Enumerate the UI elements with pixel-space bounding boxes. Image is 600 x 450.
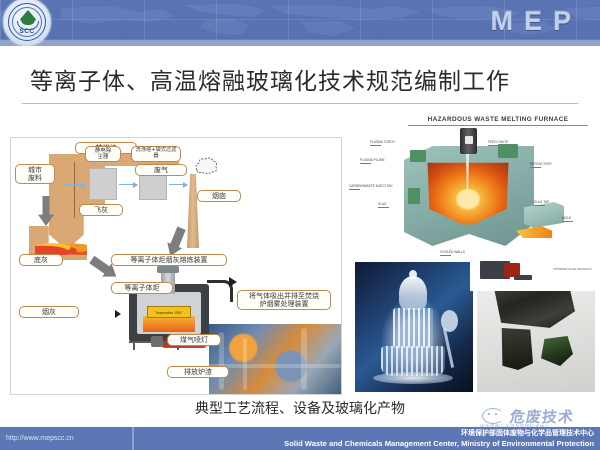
furnace-green-block-left <box>410 150 426 162</box>
label-plasma-torch: 等离子体炬 <box>111 282 173 294</box>
label-slag-discharge: 排放炉渣 <box>167 366 229 378</box>
furnace-callout-plasma-plume: PLASMA PLUME <box>360 158 385 164</box>
watermark-mascot-icon <box>482 408 504 424</box>
label-gas-burner: 煤气喷灯 <box>167 334 221 346</box>
furnace-schematic-title: HAZARDOUS WASTE MELTING FURNACE <box>408 116 588 126</box>
photo-pipe-3 <box>301 328 307 390</box>
label-chimney: 烟囱 <box>197 190 241 202</box>
plasma-torch-cap <box>157 266 179 273</box>
gas-flow-arrow-2 <box>119 184 137 185</box>
furnace-callout-feed-chute: FEED CHUTE <box>488 140 508 146</box>
gas-flow-arrow-3 <box>169 184 187 185</box>
offgas-arrow <box>229 277 237 287</box>
mep-brand-text: MEP <box>490 6 582 37</box>
footer-divider <box>132 427 134 450</box>
label-gas-extraction: 将气体吸出并排至焚烧 炉烟雾处理装置 <box>237 290 331 310</box>
furnace-callout-cooled-walls: COOLED WALLS <box>440 250 465 256</box>
melter-temperature-tag: Temperature 1500° <box>147 306 191 318</box>
crystal-dome <box>399 276 427 310</box>
furnace-torch-window <box>465 136 473 144</box>
label-urban-waste: 城市 废料 <box>15 164 55 184</box>
crystal-mid-section <box>393 308 433 348</box>
label-electrostatic-precipitator: 静电除 尘器 <box>85 146 121 162</box>
label-soot: 烟灰 <box>19 306 79 318</box>
molten-bath-graphic <box>143 316 195 332</box>
label-melting-unit: 等离子体炬烟灰熔炼装置 <box>111 254 227 266</box>
title-divider <box>22 103 578 104</box>
spoon-handle <box>443 328 454 368</box>
page-header: MEP SCC <box>0 0 600 46</box>
watermark: 危废技术 固体废物与化学品管理技术中心 <box>476 404 594 434</box>
inset-mold-tray <box>514 275 532 280</box>
furnace-callout-slag-tap: SLAG TAP <box>534 200 549 206</box>
process-flow-diagram: Temperature 1500° 城市 废料 焚烧炉 废气 静电除 尘器 <box>10 137 342 395</box>
inset-callout-label: VITRIFIED SLAG PRODUCT <box>553 267 592 271</box>
slag-block-medium <box>499 328 533 370</box>
furnace-callout-mold: MOLD <box>562 216 573 222</box>
furnace-callout-carbon-waste-injection: CARBON/WASTE INJECTION <box>349 184 392 190</box>
burner-leg-left <box>133 343 135 350</box>
melting-furnace-schematic: HAZARDOUS WASTE MELTING FURNACE PLASMA T… <box>348 110 596 262</box>
label-fly-ash: 飞灰 <box>79 204 123 216</box>
chimney-stack-shape <box>187 174 199 248</box>
furnace-callout-plasma-torch: PLASMA TORCH <box>370 140 395 146</box>
slag-mold-inset-photo: VITRIFIED SLAG PRODUCT <box>470 255 596 291</box>
soot-feed-arrow <box>115 310 121 318</box>
footer-org-en: Solid Waste and Chemicals Management Cen… <box>284 439 594 448</box>
crystal-glass-photo <box>355 262 473 392</box>
label-scrubber-bagfilter: 洗涤塔+袋式过滤 器 <box>131 146 181 162</box>
page-title: 等离子体、高温熔融玻璃化技术规范编制工作 <box>30 62 510 96</box>
logo-abbr-text: SCC <box>4 28 50 35</box>
watermark-subtext: 固体废物与化学品管理技术中心 <box>480 424 550 430</box>
label-bottom-ash: 底灰 <box>19 254 63 266</box>
gas-flow-arrow-1 <box>65 184 85 185</box>
label-waste-gas: 废气 <box>135 164 187 176</box>
crystal-plate <box>373 372 453 384</box>
scc-logo: SCC <box>3 0 51 46</box>
slag-block-green <box>539 336 573 366</box>
incinerator-inner-line <box>74 162 75 218</box>
crystal-spoon-graphic <box>441 310 467 366</box>
photo-pipe-4 <box>209 364 341 368</box>
electrostatic-precipitator-shape <box>89 168 117 200</box>
crystal-ornament-graphic <box>377 276 449 380</box>
mascot-eye-left <box>488 413 490 415</box>
burner-nozzle <box>151 336 163 347</box>
furnace-callout-slag: SLAG <box>378 202 389 208</box>
mascot-eye-right <box>495 413 497 415</box>
furnace-feed-chute-block <box>498 144 518 158</box>
furnace-callout-refractory: REFRACTORY <box>530 162 552 168</box>
smoke-plume-graphic <box>193 156 219 176</box>
header-bottom-rule <box>0 40 600 46</box>
industrial-plant-photo <box>209 324 341 394</box>
furnace-injection-block <box>408 188 420 204</box>
footer-url[interactable]: http://www.mepscc.cn <box>6 435 74 442</box>
